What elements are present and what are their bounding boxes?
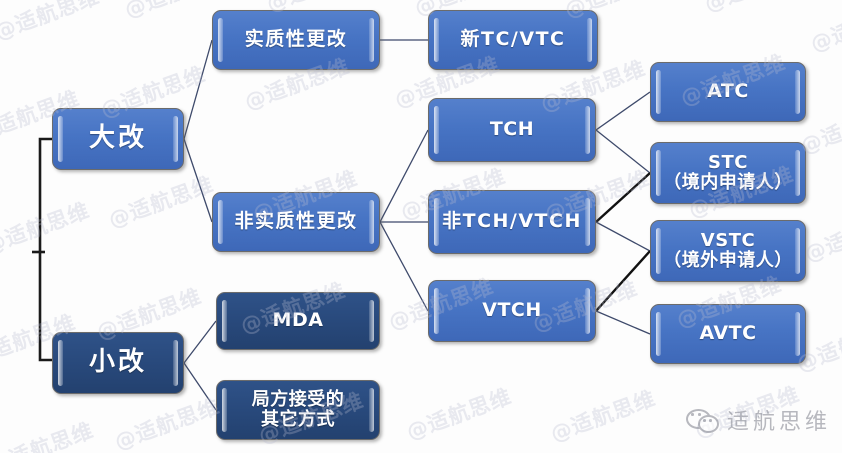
connector-vtch-to-avtc bbox=[596, 311, 650, 334]
node-minor[interactable]: 小改 bbox=[52, 332, 184, 394]
node-label-tch: TCH bbox=[484, 119, 540, 140]
node-label-vstc: VSTC（境外申请人） bbox=[657, 231, 799, 271]
node-nontch[interactable]: 非TCH/VTCH bbox=[428, 190, 596, 254]
node-vtch[interactable]: VTCH bbox=[428, 280, 596, 342]
node-label-stc: STC（境内申请人） bbox=[657, 153, 799, 193]
node-label-minor: 小改 bbox=[83, 348, 153, 377]
node-label-newtc: 新TC/VTC bbox=[455, 29, 572, 50]
connector-nonsubstantial-to-vtch bbox=[380, 222, 428, 311]
connector-major-to-nonsubstantial bbox=[184, 139, 212, 222]
connector-minor-to-mda bbox=[184, 321, 216, 363]
node-label-atc: ATC bbox=[701, 81, 755, 102]
connector-vtch-to-vstc bbox=[596, 251, 650, 311]
node-tch[interactable]: TCH bbox=[428, 98, 596, 162]
node-label-substantial: 实质性更改 bbox=[239, 29, 354, 50]
wechat-icon bbox=[686, 409, 718, 431]
node-label-other: 局方接受的其它方式 bbox=[246, 390, 351, 430]
node-label-major: 大改 bbox=[83, 124, 153, 153]
brand-name: 适航思维 bbox=[727, 404, 831, 436]
node-major[interactable]: 大改 bbox=[52, 108, 184, 170]
node-atc[interactable]: ATC bbox=[650, 62, 806, 122]
brand-logo: 适航思维 bbox=[686, 404, 831, 436]
node-nonsubstantial[interactable]: 非实质性更改 bbox=[212, 192, 380, 252]
node-label-avtc: AVTC bbox=[693, 323, 762, 344]
connector-nontch-to-stc bbox=[596, 173, 650, 222]
node-label-mda: MDA bbox=[267, 310, 330, 331]
connector-major-to-substantial bbox=[184, 40, 212, 139]
node-stc[interactable]: STC（境内申请人） bbox=[650, 142, 806, 204]
node-substantial[interactable]: 实质性更改 bbox=[212, 10, 380, 70]
node-mda[interactable]: MDA bbox=[216, 292, 380, 350]
connector-tch-to-atc bbox=[596, 92, 650, 130]
connector-minor-to-other bbox=[184, 363, 216, 410]
left-bracket bbox=[40, 139, 56, 360]
node-other[interactable]: 局方接受的其它方式 bbox=[216, 380, 380, 440]
connector-tch-to-stc bbox=[596, 130, 650, 173]
node-avtc[interactable]: AVTC bbox=[650, 304, 806, 364]
node-label-nontch: 非TCH/VTCH bbox=[436, 211, 588, 232]
connector-nonsubstantial-to-tch bbox=[380, 130, 428, 222]
node-label-vtch: VTCH bbox=[476, 300, 548, 321]
node-vstc[interactable]: VSTC（境外申请人） bbox=[650, 220, 806, 282]
connector-nontch-to-vstc bbox=[596, 222, 650, 251]
diagram-canvas: 大改小改实质性更改非实质性更改MDA局方接受的其它方式新TC/VTCTCH非TC… bbox=[0, 0, 842, 453]
node-newtc[interactable]: 新TC/VTC bbox=[428, 10, 598, 70]
node-label-nonsubstantial: 非实质性更改 bbox=[228, 211, 363, 232]
